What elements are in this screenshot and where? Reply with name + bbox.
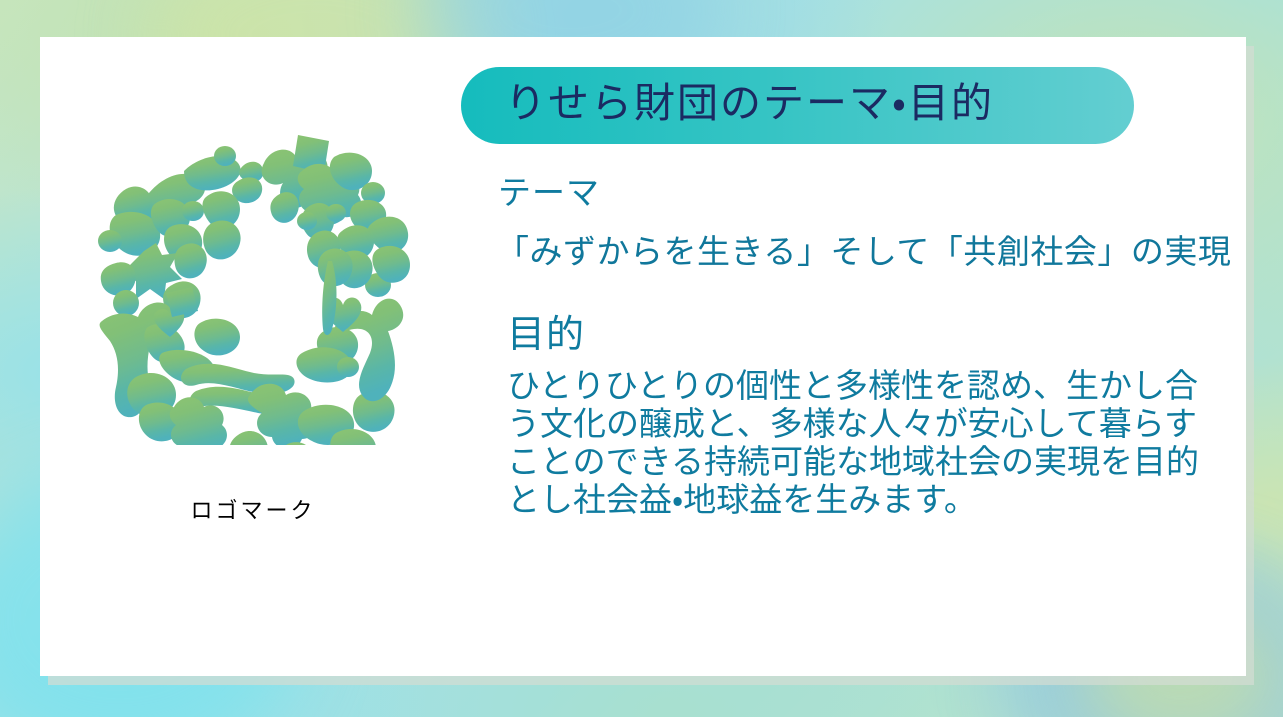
logo-mark-icon <box>88 115 418 445</box>
logo-column: ロゴマーク <box>58 115 448 525</box>
slide-title-pill: りせら財団のテーマ・目的 <box>461 67 1134 144</box>
content-card: ロゴマーク りせら財団のテーマ・目的 テーマ 「みずからを生きる」そして「共創社… <box>40 37 1246 676</box>
logo-caption: ロゴマーク <box>58 493 448 525</box>
purpose-body-line-4: とし社会益・地球益を生みます。 <box>507 482 1267 520</box>
purpose-body-text: ひとりひとりの個性と多様性を認め、生かし合 う文化の醸成と、多様な人々が安心して… <box>507 368 1267 521</box>
theme-body-text: 「みずからを生きる」そして「共創社会」の実現 <box>496 234 1261 274</box>
text-column: りせら財団のテーマ・目的 テーマ 「みずからを生きる」そして「共創社会」の実現 … <box>461 67 1261 521</box>
theme-heading: テーマ <box>498 175 1261 215</box>
purpose-body-line-2: う文化の醸成と、多様な人々が安心して暮らす <box>507 406 1267 444</box>
purpose-body-line-3: ことのできる持続可能な地域社会の実現を目的 <box>507 444 1267 482</box>
slide-canvas: ロゴマーク りせら財団のテーマ・目的 テーマ 「みずからを生きる」そして「共創社… <box>0 0 1283 717</box>
purpose-heading: 目的 <box>507 313 1261 359</box>
purpose-body-line-1: ひとりひとりの個性と多様性を認め、生かし合 <box>507 368 1267 406</box>
